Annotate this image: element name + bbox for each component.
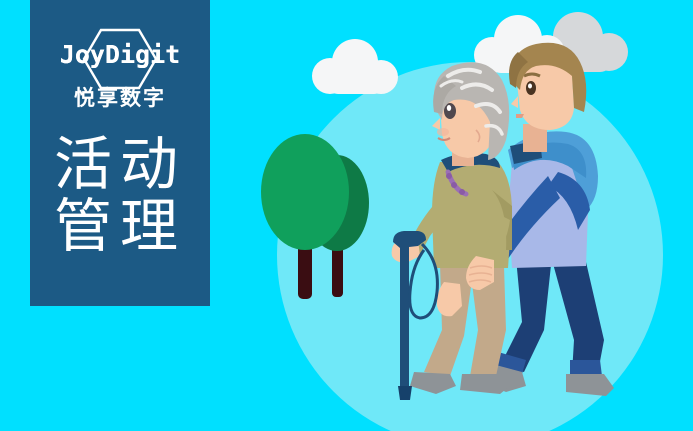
poster-canvas: JoyDigit 悦享数字 活动 管理 [0,0,693,431]
brand-panel: JoyDigit 悦享数字 活动 管理 [30,0,210,306]
cane-shaft [400,242,409,388]
page-title-line-2: 管理 [30,196,210,258]
logo-wordmark: JoyDigit [30,40,210,69]
cane-tip [398,386,412,400]
logo-block: JoyDigit 悦享数字 [30,26,210,122]
logo-chinese-name: 悦享数字 [30,82,210,112]
page-title: 活动 管理 [30,134,210,258]
page-title-line-1: 活动 [30,134,210,196]
